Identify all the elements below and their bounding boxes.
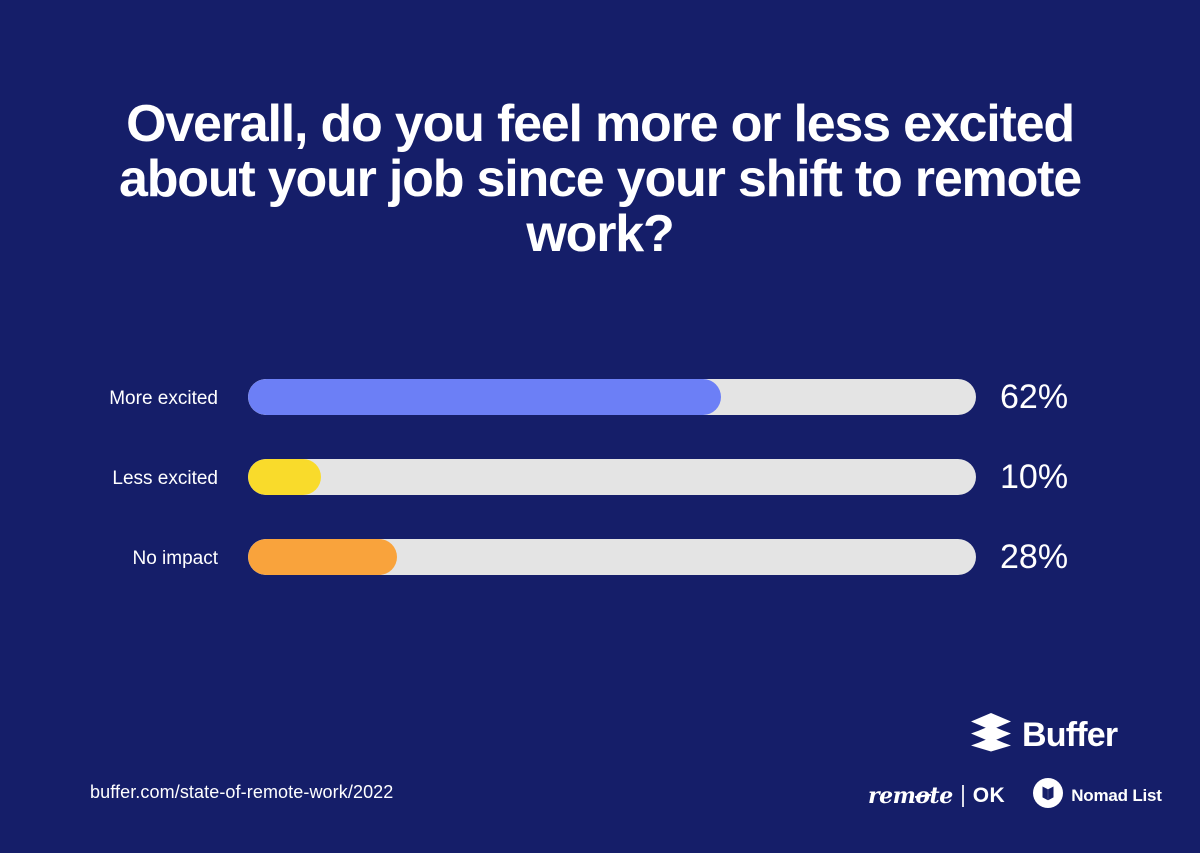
nomad-list-label: Nomad List (1071, 786, 1162, 806)
bar-track-more-excited (248, 379, 976, 415)
partner-logos: remote OK Nomad List (868, 778, 1162, 813)
remote-ok-logo: remote OK (868, 784, 1005, 808)
bar-label-less-excited: Less excited (60, 467, 218, 491)
bar-value-less-excited: 10% (1000, 457, 1068, 497)
bar-value-more-excited: 62% (1000, 377, 1068, 417)
divider (962, 785, 964, 807)
infographic-poster: Overall, do you feel more or less excite… (0, 0, 1200, 853)
bar-row: More excited 62% (0, 375, 1200, 455)
bar-chart: More excited 62% Less excited 10% No imp… (0, 375, 1200, 615)
nomad-list-map-icon (1033, 778, 1063, 813)
bar-track-no-impact (248, 539, 976, 575)
bar-label-no-impact: No impact (60, 547, 218, 571)
bar-row: Less excited 10% (0, 455, 1200, 535)
bar-track-less-excited (248, 459, 976, 495)
source-url[interactable]: buffer.com/state-of-remote-work/2022 (90, 780, 393, 804)
bar-fill-no-impact (248, 539, 397, 575)
bar-fill-less-excited (248, 459, 321, 495)
stacked-layers-icon (970, 712, 1012, 757)
buffer-wordmark: Buffer (1022, 717, 1117, 753)
buffer-logo: Buffer (970, 712, 1117, 757)
bar-row: No impact 28% (0, 535, 1200, 615)
bar-fill-more-excited (248, 379, 721, 415)
remote-ok-wordmark: remote (868, 784, 953, 808)
remote-ok-suffix: OK (973, 784, 1006, 808)
bar-label-more-excited: More excited (60, 387, 218, 411)
bar-value-no-impact: 28% (1000, 537, 1068, 577)
nomad-list-logo: Nomad List (1033, 778, 1162, 813)
page-title: Overall, do you feel more or less excite… (0, 97, 1200, 262)
